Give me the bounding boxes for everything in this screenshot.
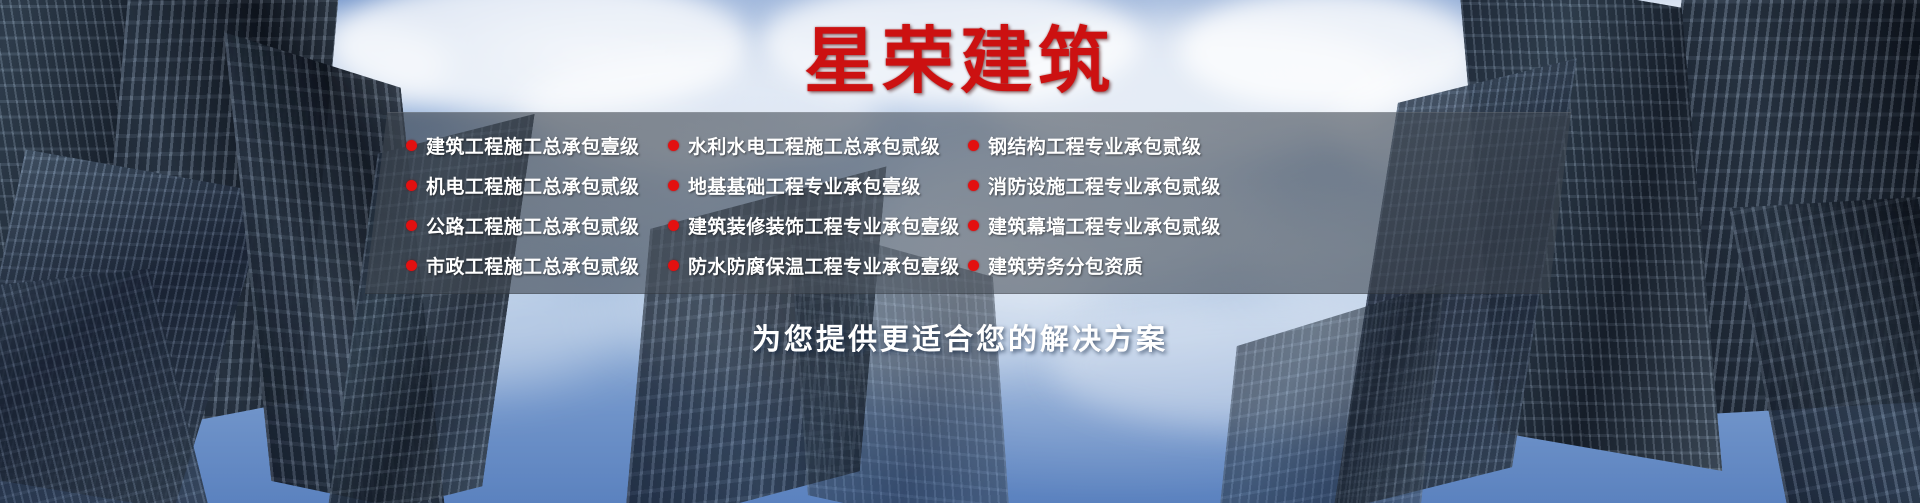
bullet-dot-icon: [968, 140, 979, 151]
list-item: 建筑幕墙工程专业承包贰级: [968, 210, 1268, 240]
bullet-dot-icon: [406, 220, 417, 231]
list-item-label: 水利水电工程施工总承包贰级: [688, 132, 940, 159]
qualifications-column-1: 建筑工程施工总承包壹级 机电工程施工总承包贰级 公路工程施工总承包贰级 市政工程…: [406, 130, 668, 280]
list-item-label: 钢结构工程专业承包贰级: [988, 132, 1201, 159]
list-item-label: 机电工程施工总承包贰级: [426, 172, 639, 199]
bullet-dot-icon: [406, 180, 417, 191]
list-item-label: 地基基础工程专业承包壹级: [688, 172, 921, 199]
list-item: 建筑劳务分包资质: [968, 250, 1268, 280]
list-item: 市政工程施工总承包贰级: [406, 250, 668, 280]
bullet-dot-icon: [406, 140, 417, 151]
list-item: 水利水电工程施工总承包贰级: [668, 130, 968, 160]
page-title: 星荣建筑: [0, 26, 1920, 98]
list-item: 地基基础工程专业承包壹级: [668, 170, 968, 200]
hero-banner: 星荣建筑 建筑工程施工总承包壹级 机电工程施工总承包贰级 公路工程施工总承包贰级…: [0, 0, 1920, 503]
bullet-dot-icon: [968, 180, 979, 191]
list-item: 建筑工程施工总承包壹级: [406, 130, 668, 160]
list-item: 公路工程施工总承包贰级: [406, 210, 668, 240]
bullet-dot-icon: [668, 140, 679, 151]
bullet-dot-icon: [406, 260, 417, 271]
qualifications-list: 建筑工程施工总承包壹级 机电工程施工总承包贰级 公路工程施工总承包贰级 市政工程…: [406, 130, 1546, 280]
list-item-label: 建筑劳务分包资质: [988, 252, 1143, 279]
list-item: 建筑装修装饰工程专业承包壹级: [668, 210, 968, 240]
qualifications-column-3: 钢结构工程专业承包贰级 消防设施工程专业承包贰级 建筑幕墙工程专业承包贰级 建筑…: [968, 130, 1268, 280]
list-item-label: 建筑装修装饰工程专业承包壹级: [688, 212, 960, 239]
list-item-label: 建筑幕墙工程专业承包贰级: [988, 212, 1221, 239]
bullet-dot-icon: [968, 260, 979, 271]
qualifications-column-2: 水利水电工程施工总承包贰级 地基基础工程专业承包壹级 建筑装修装饰工程专业承包壹…: [668, 130, 968, 280]
banner-tagline: 为您提供更适合您的解决方案: [0, 316, 1920, 358]
list-item-label: 建筑工程施工总承包壹级: [426, 132, 639, 159]
list-item: 消防设施工程专业承包贰级: [968, 170, 1268, 200]
list-item-label: 公路工程施工总承包贰级: [426, 212, 639, 239]
list-item-label: 市政工程施工总承包贰级: [426, 252, 639, 279]
list-item-label: 消防设施工程专业承包贰级: [988, 172, 1221, 199]
bullet-dot-icon: [968, 220, 979, 231]
list-item-label: 防水防腐保温工程专业承包壹级: [688, 252, 960, 279]
list-item: 机电工程施工总承包贰级: [406, 170, 668, 200]
bullet-dot-icon: [668, 180, 679, 191]
list-item: 防水防腐保温工程专业承包壹级: [668, 250, 968, 280]
bullet-dot-icon: [668, 260, 679, 271]
list-item: 钢结构工程专业承包贰级: [968, 130, 1268, 160]
bullet-dot-icon: [668, 220, 679, 231]
